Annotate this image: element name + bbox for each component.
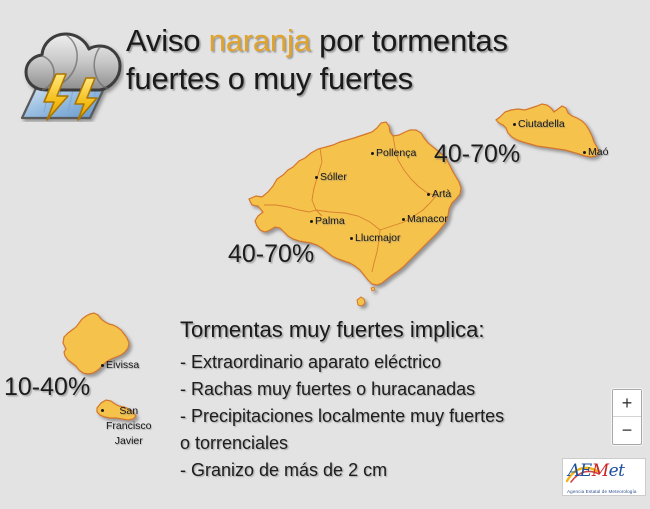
aemet-wordmark-m: M	[592, 461, 609, 481]
city-dot	[402, 218, 405, 221]
consequence-item-continuation: o torrenciales	[180, 430, 640, 457]
city-label: Pollença	[376, 147, 416, 159]
city-label: Artà	[432, 188, 451, 200]
alert-infographic: Aviso naranja por tormentas fuertes o mu…	[0, 0, 650, 509]
zoom-out-button[interactable]: −	[613, 417, 641, 443]
alert-title-line-2: fuertes o muy fuertes	[126, 60, 646, 98]
consequences-title: Tormentas muy fuertes implica:	[180, 315, 640, 345]
map-zoom-control[interactable]: + −	[612, 389, 642, 445]
city-label: Ciutadella	[518, 118, 565, 130]
alert-title-line-1: Aviso naranja por tormentas	[126, 22, 646, 60]
city-dot	[315, 176, 318, 179]
city-label: Llucmajor	[355, 232, 401, 244]
alert-title: Aviso naranja por tormentas fuertes o mu…	[126, 22, 646, 98]
city-label: Maó	[588, 146, 608, 158]
city-dot	[371, 152, 374, 155]
aemet-wordmark-ae: AE	[568, 461, 592, 481]
aemet-wordmark: AEMet	[568, 461, 625, 481]
consequence-item: - Extraordinario aparato eléctrico	[180, 349, 640, 376]
consequence-item: - Precipitaciones localmente muy fuertes	[180, 403, 640, 430]
city-dot	[583, 151, 586, 154]
city-label: Sóller	[320, 171, 347, 183]
consequence-item: - Rachas muy fuertes o huracanadas	[180, 376, 640, 403]
city-dot	[310, 220, 313, 223]
aemet-subtitle: Agencia Estatal de Meteorología	[567, 489, 637, 494]
alert-title-prefix: Aviso	[126, 23, 209, 58]
aemet-wordmark-et: et	[609, 461, 625, 481]
zoom-in-button[interactable]: +	[613, 390, 641, 417]
aemet-logo: AEMet Agencia Estatal de Meteorología	[562, 458, 646, 496]
city-label: Eivissa	[106, 359, 139, 371]
city-label: Manacor	[407, 213, 448, 225]
probability-label-mallorca: 40-70%	[228, 240, 314, 269]
alert-title-suffix: por tormentas	[311, 23, 508, 58]
island-cabrera	[357, 287, 375, 306]
probability-label-menorca: 40-70%	[434, 140, 520, 169]
city-label: Palma	[315, 215, 345, 227]
city-dot	[513, 123, 516, 126]
city-label: SanFranciscoJavier	[106, 404, 152, 449]
city-dot	[101, 409, 104, 412]
thunderstorm-icon	[16, 22, 124, 122]
city-dot	[427, 193, 430, 196]
header: Aviso naranja por tormentas fuertes o mu…	[0, 0, 650, 130]
city-dot	[350, 237, 353, 240]
probability-label-ibiza: 10-40%	[4, 373, 90, 402]
city-dot	[101, 364, 104, 367]
alert-level-word: naranja	[209, 23, 311, 58]
